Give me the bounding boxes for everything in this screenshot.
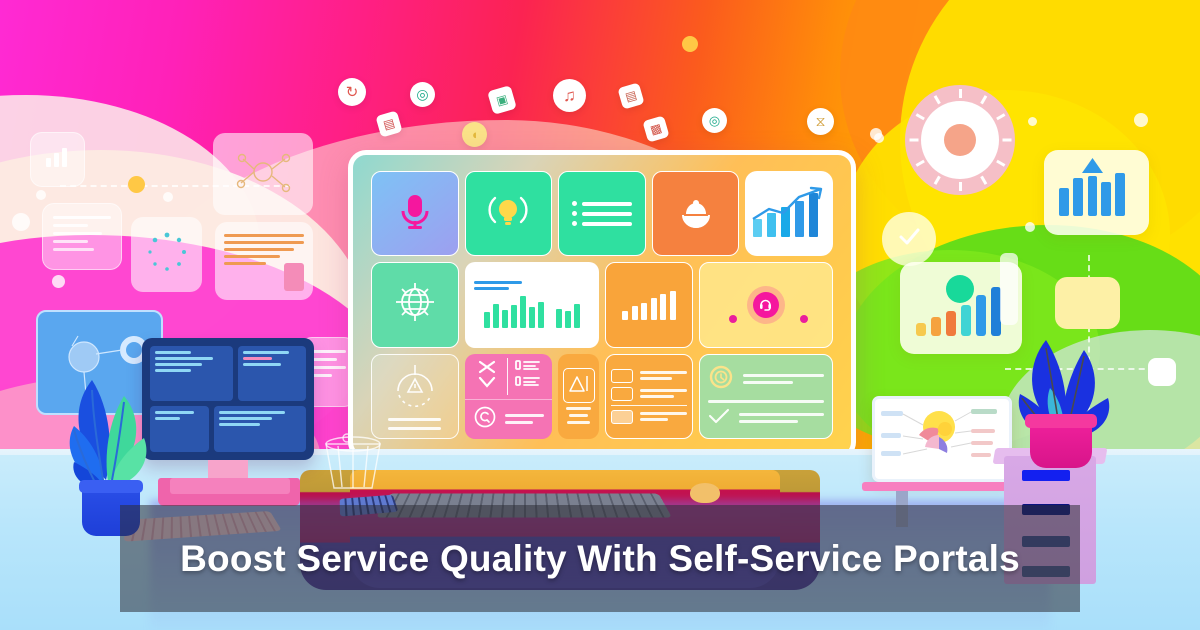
- left-card-doc: [215, 222, 313, 300]
- bar-chart: [484, 294, 580, 328]
- gauge-label-line: [388, 418, 441, 421]
- chat-bubble-icon: [473, 405, 497, 434]
- plant-pot-rim-left: [79, 480, 143, 493]
- tile-report[interactable]: [558, 354, 599, 439]
- document-lines-icon: [224, 234, 304, 237]
- report-chart-icon: [563, 368, 595, 403]
- accent-dot-11: [874, 133, 884, 143]
- tile-workflow[interactable]: [465, 354, 553, 439]
- status-dot-right: [800, 315, 808, 323]
- refresh-icon: ↻: [346, 83, 359, 101]
- network-nodes-icon: [229, 145, 297, 204]
- document-icon: ▤: [624, 88, 639, 105]
- floating-icon-target: ◎: [702, 108, 727, 133]
- filter-icon: ⧖: [816, 113, 826, 130]
- thumbnail-icon-2: [611, 387, 633, 401]
- list-icon: [572, 201, 632, 226]
- left-card-chart: [30, 132, 85, 187]
- circle-o-icon: ◎: [416, 86, 428, 103]
- mouse[interactable]: [690, 483, 720, 503]
- accent-dot-3: [36, 190, 46, 200]
- tile-growth-chart[interactable]: [745, 171, 833, 256]
- thumbnail-icon-3: [611, 410, 633, 424]
- title-overlay-band: Boost Service Quality With Self-Service …: [120, 505, 1080, 612]
- clock-check-icon: [708, 364, 734, 395]
- microphone-icon: [398, 191, 432, 236]
- moon-icon: ◖: [471, 127, 479, 142]
- accent-dot-4: [12, 213, 30, 231]
- user-avatar-icon: [678, 194, 714, 233]
- resolved-line: [743, 374, 824, 377]
- drawer-1[interactable]: [1022, 470, 1070, 481]
- bar-chart: [622, 290, 676, 320]
- check-badge: [882, 212, 936, 266]
- floating-icon-filter: ⧖: [807, 108, 834, 135]
- floating-icon-music: ♫: [553, 79, 586, 112]
- list-lines-icon: [310, 350, 346, 353]
- right-growth-card: [1044, 150, 1149, 235]
- accent-dot-5: [163, 192, 173, 202]
- music-note-icon: ♫: [563, 86, 576, 106]
- page-title: Boost Service Quality With Self-Service …: [180, 538, 1020, 579]
- tile-avatar[interactable]: [652, 171, 740, 256]
- white-placeholder-card: [1148, 358, 1176, 386]
- accent-dot-6: [52, 275, 65, 288]
- image-icon: ▣: [495, 92, 510, 109]
- tile-microphone[interactable]: [371, 171, 459, 256]
- workflow-line: [505, 414, 545, 417]
- lightbulb-icon: [488, 192, 528, 235]
- doc-thumbnail: [284, 263, 304, 291]
- accent-dot-2: [682, 36, 698, 52]
- report-line: [566, 407, 591, 410]
- blue-monitor-stand: [208, 460, 248, 478]
- check-circle-icon: [894, 222, 924, 257]
- tile-analytics-panel[interactable]: [465, 262, 599, 347]
- window-icon: ▤: [382, 116, 397, 133]
- panel-header-lines: [474, 281, 590, 290]
- shuffle-icon: [476, 358, 500, 395]
- tile-idea[interactable]: [465, 171, 553, 256]
- plant-pot-rim-right: [1025, 414, 1097, 428]
- trending-up-chart: [749, 183, 829, 244]
- tile-usage-bars[interactable]: [605, 262, 693, 347]
- blue-monitor-panel-4: [214, 406, 306, 452]
- tile-checklist[interactable]: [558, 171, 646, 256]
- laptop: [872, 396, 1012, 482]
- thumbnail-icon: [611, 369, 633, 383]
- text-lines-icon: [53, 216, 111, 219]
- tile-resolved-card[interactable]: [699, 354, 833, 439]
- globe-icon: [393, 280, 437, 329]
- accent-dot-1: [128, 176, 145, 193]
- bar-chart-icon: [44, 146, 72, 173]
- bar-chart-up-icon: [1055, 156, 1139, 223]
- accent-dot-8: [1134, 113, 1148, 127]
- tile-ticket-list[interactable]: [605, 354, 693, 439]
- monitor-screen: [348, 150, 856, 460]
- floating-icon-refresh: ↻: [338, 78, 366, 106]
- left-card-network: [213, 133, 313, 215]
- accent-dot-9: [1028, 117, 1037, 126]
- target-icon: ◎: [709, 113, 720, 129]
- tile-alert-gauge[interactable]: [371, 354, 459, 439]
- wire-basket-icon: [318, 430, 388, 501]
- ticket-line: [640, 371, 687, 374]
- blue-monitor-base: [170, 478, 290, 494]
- left-card-loading: [131, 217, 202, 292]
- donut-gauge-icon: [921, 101, 999, 179]
- blue-monitor-panel-2: [238, 346, 306, 401]
- dashboard-grid: [371, 171, 833, 439]
- accent-dot-10: [1025, 222, 1035, 232]
- warning-gauge-icon: [390, 363, 440, 412]
- laptop-base: [862, 482, 1024, 491]
- spinner-icon: [144, 229, 190, 280]
- ring-gauge: [905, 85, 1015, 195]
- illustration-canvas: ↻ ◎ ▤ ▣ ◖ ♫ ▤ ▩ ◎ ⧖: [0, 0, 1200, 630]
- tile-support-badge[interactable]: [699, 262, 833, 347]
- status-dot-left: [729, 315, 737, 323]
- floating-icon-circle: ◎: [410, 82, 435, 107]
- floating-icon-moon: ◖: [462, 122, 487, 147]
- check-mark-icon: [708, 408, 730, 429]
- photo-icon: ▩: [649, 121, 664, 138]
- tile-global-network[interactable]: [371, 262, 459, 347]
- left-card-text: [42, 203, 122, 270]
- task-list-icon: [507, 358, 541, 395]
- headset-icon: [747, 286, 785, 324]
- bar-chart-icon: [912, 269, 1010, 342]
